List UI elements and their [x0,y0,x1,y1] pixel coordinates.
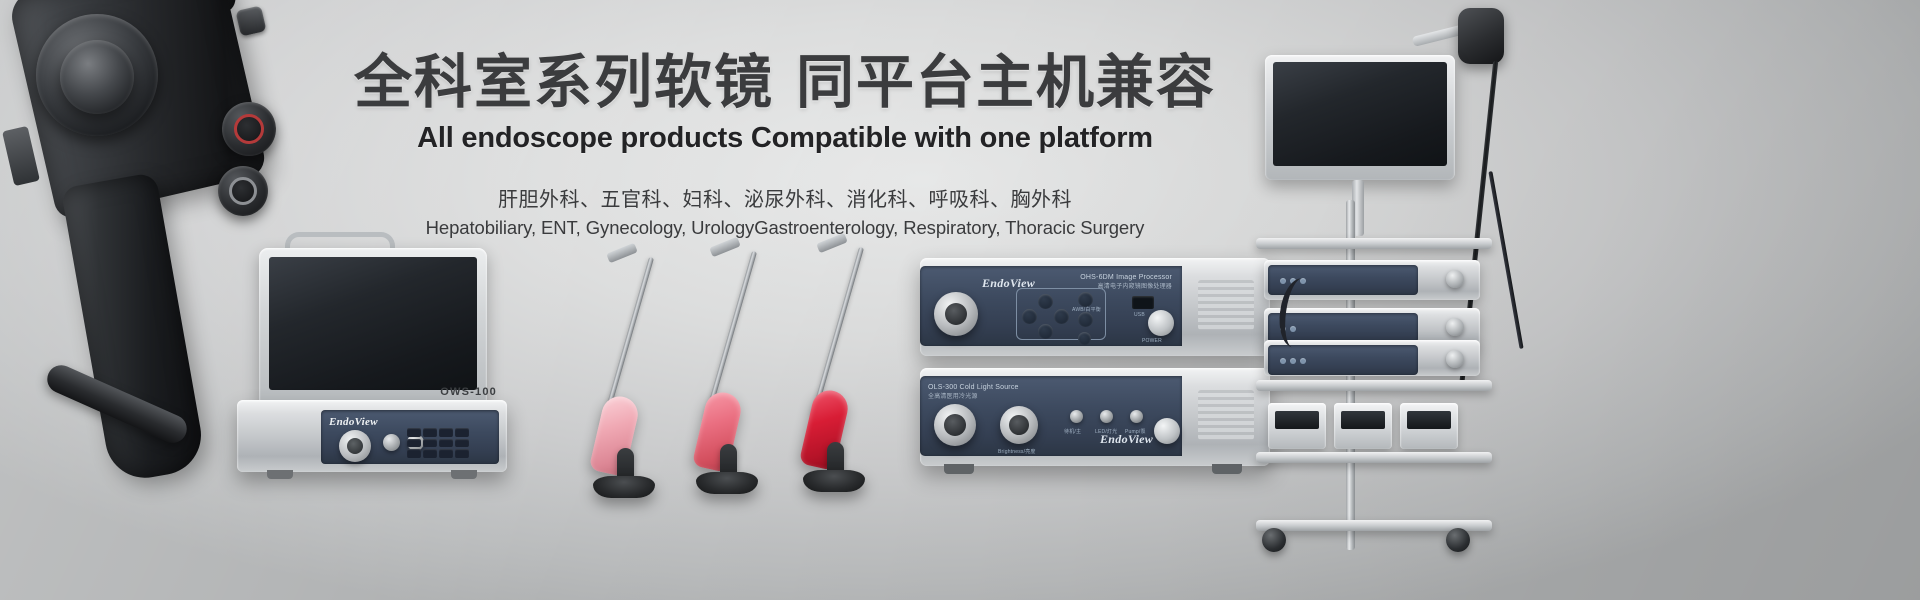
processor-power-label: POWER [1142,338,1162,344]
instrument-stand-base [593,476,655,498]
processor-usb-port [1132,296,1154,309]
indicator-dot [1300,358,1306,364]
cart-device-3-panel [1268,345,1418,375]
headline-part-1: 全科室系列软镜 [354,48,774,116]
ows-foot-left [267,470,293,479]
ows-key [407,439,421,448]
instrument-stand-base [696,472,758,494]
ows-monitor-unit: OWS-100 EndoView [237,248,507,478]
light-source-label-led: LED/灯光 [1095,428,1117,435]
light-source-label-standby: 待机/主 [1064,428,1081,435]
processor-key-right [1054,309,1069,324]
box-display [1275,411,1319,429]
light-source-button-led [1100,410,1113,423]
light-source-vent-grille [1198,390,1254,440]
indicator-dot [1280,358,1286,364]
promo-banner: OWS-100 EndoView [0,0,1920,600]
cart-shelf-3 [1256,452,1492,463]
image-processor-unit: EndoView OHS-6DM Image Processor 高清电子内窥镜… [920,258,1270,356]
processor-key-awb [1078,292,1093,307]
processor-key-awb-label: AWB/白平衡 [1072,306,1101,313]
ows-control-panel: EndoView [321,410,499,464]
headline-part-2: 同平台主机兼容 [796,48,1216,116]
cart-accessory-box-3 [1400,403,1458,449]
processor-key-down [1038,324,1053,339]
cart-caster-right [1446,528,1470,552]
instrument-jaw-tip [606,243,638,264]
light-source-model-cn: 全高清医用冷光源 [928,391,1019,400]
light-source-unit: EndoView OLS-300 Cold Light Source 全高清医用… [920,368,1270,466]
processor-usb-label: USB [1134,312,1145,318]
instrument-shaft [811,247,864,417]
cart-caster-left [1262,528,1286,552]
laparoscopic-instrument-red [757,238,907,488]
cart-device-2-knob [1446,318,1464,336]
cart-accessory-box-2 [1334,403,1392,449]
processor-power-button [1148,310,1174,336]
ows-key [407,428,421,437]
cart-shelf-2 [1256,380,1492,391]
ows-key [423,449,437,458]
light-source-model-en: OLS-300 Cold Light Source [928,384,1019,391]
ows-key [439,449,453,458]
ows-key [455,439,469,448]
processor-key-freeze [1078,312,1093,327]
processor-main-dial [934,292,978,336]
processor-key-capture [1078,332,1091,345]
processor-vent-grille [1198,280,1254,330]
ows-key [455,428,469,437]
processor-key-up [1038,294,1053,309]
processor-key-left [1022,309,1037,324]
ows-model-label: OWS-100 [440,386,497,398]
light-source-brightness-label: Brightness/亮度 [998,448,1036,455]
cart-device-1-knob [1446,270,1464,288]
ows-key [407,449,421,458]
banner-text-block: 全科室系列软镜同平台主机兼容 All endoscope products Co… [0,48,1570,239]
indicator-dot [1280,278,1286,284]
cart-device-3-knob [1446,350,1464,368]
processor-model-en: OHS-6DM Image Processor [1080,274,1172,281]
ows-main-knob [339,430,371,462]
light-source-front-panel: EndoView OLS-300 Cold Light Source 全高清医用… [920,376,1182,456]
cart-device-3-indicators [1280,358,1306,364]
light-source-power-button [1154,418,1180,444]
ows-key [455,449,469,458]
ows-brand-label: EndoView [329,416,378,428]
box-display [1407,411,1451,429]
light-source-label-pump: Pump/泵 [1125,428,1146,435]
ows-foot-right [451,470,477,479]
light-source-fiber-port [934,404,976,446]
ows-key [439,428,453,437]
instrument-stand-base [803,470,865,492]
light-source-brightness-dial [1000,406,1038,444]
specialties-line-cn: 肝胆外科、五官科、妇科、泌尿外科、消化科、呼吸科、胸外科 [0,183,1570,212]
cart-accessory-box-1 [1268,403,1326,449]
stack-foot-left [944,464,974,474]
banner-headline: 全科室系列软镜同平台主机兼容 [0,48,1570,116]
ows-monitor-bezel [259,248,487,408]
ows-key [423,428,437,437]
ows-keypad [407,428,469,458]
cart-shelf-1 [1256,238,1492,249]
scope-button-3 [235,5,266,36]
specialties-line-en: Hepatobiliary, ENT, Gynecology, UrologyG… [0,217,1570,239]
ows-small-knob-1 [383,434,400,451]
indicator-dot [1290,358,1296,364]
ows-display-screen [269,257,477,390]
ows-key [439,439,453,448]
light-source-button-standby [1070,410,1083,423]
stack-foot-right [1212,464,1242,474]
ows-base-chassis: OWS-100 EndoView [237,400,507,472]
box-display [1341,411,1385,429]
banner-subheadline: All endoscope products Compatible with o… [0,122,1570,155]
instrument-jaw-tip [709,237,741,258]
processor-stack: EndoView OHS-6DM Image Processor 高清电子内窥镜… [920,258,1270,478]
light-source-button-pump [1130,410,1143,423]
processor-front-panel: EndoView OHS-6DM Image Processor 高清电子内窥镜… [920,266,1182,346]
ows-key [423,439,437,448]
light-source-model-label: OLS-300 Cold Light Source 全高清医用冷光源 [928,384,1019,400]
